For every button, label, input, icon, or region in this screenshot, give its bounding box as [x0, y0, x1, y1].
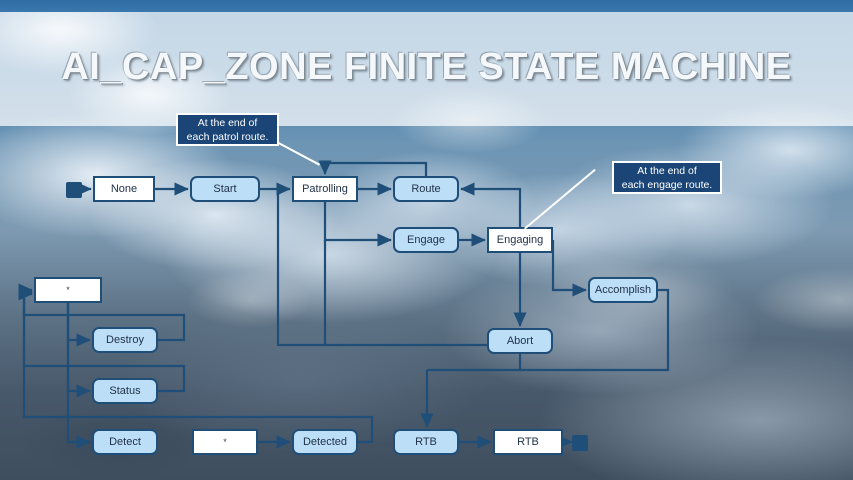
node-label: None: [111, 183, 137, 195]
state-node-detect[interactable]: Detect: [92, 429, 158, 455]
node-label: Patrolling: [302, 183, 348, 195]
state-node-status[interactable]: Status: [92, 378, 158, 404]
callout-line-2: each engage route.: [622, 178, 713, 192]
node-label: Engaging: [497, 234, 544, 246]
node-label: Route: [411, 183, 440, 195]
state-node-destroy[interactable]: Destroy: [92, 327, 158, 353]
state-node-route[interactable]: Route: [393, 176, 459, 202]
callout-line-1: At the end of: [622, 164, 713, 178]
state-node-start[interactable]: Start: [190, 176, 260, 202]
state-node-engaging[interactable]: Engaging: [487, 227, 553, 253]
slide-canvas: AI_CAP_ZONE FINITE STATE MACHINE: [0, 0, 853, 480]
state-node-abort[interactable]: Abort: [487, 328, 553, 354]
state-node-rtb-white[interactable]: RTB: [493, 429, 563, 455]
node-label: Engage: [407, 234, 445, 246]
node-label: RTB: [415, 436, 437, 448]
state-node-accomplish[interactable]: Accomplish: [588, 277, 658, 303]
node-label: Detected: [303, 436, 347, 448]
state-node-patrolling[interactable]: Patrolling: [292, 176, 358, 202]
node-label: Status: [109, 385, 140, 397]
state-node-detected[interactable]: Detected: [292, 429, 358, 455]
node-label: Detect: [109, 436, 141, 448]
node-label: RTB: [517, 436, 539, 448]
start-marker: [66, 182, 82, 198]
node-label: *: [66, 285, 70, 295]
callout-line-2: each patrol route.: [187, 130, 269, 144]
state-node-any-top[interactable]: *: [34, 277, 102, 303]
state-node-any-bottom[interactable]: *: [192, 429, 258, 455]
node-label: Destroy: [106, 334, 144, 346]
end-marker: [572, 435, 588, 451]
node-label: Abort: [507, 335, 533, 347]
state-node-engage[interactable]: Engage: [393, 227, 459, 253]
state-node-rtb-blue[interactable]: RTB: [393, 429, 459, 455]
node-label: Accomplish: [595, 284, 651, 296]
flowchart: None Start Patrolling Route Engage Engag…: [0, 0, 853, 480]
state-node-none[interactable]: None: [93, 176, 155, 202]
callout-line-1: At the end of: [187, 116, 269, 130]
callout-engage-note: At the end of each engage route.: [612, 161, 722, 194]
node-label: *: [223, 437, 227, 447]
callout-patrol-note: At the end of each patrol route.: [176, 113, 279, 146]
node-label: Start: [213, 183, 236, 195]
